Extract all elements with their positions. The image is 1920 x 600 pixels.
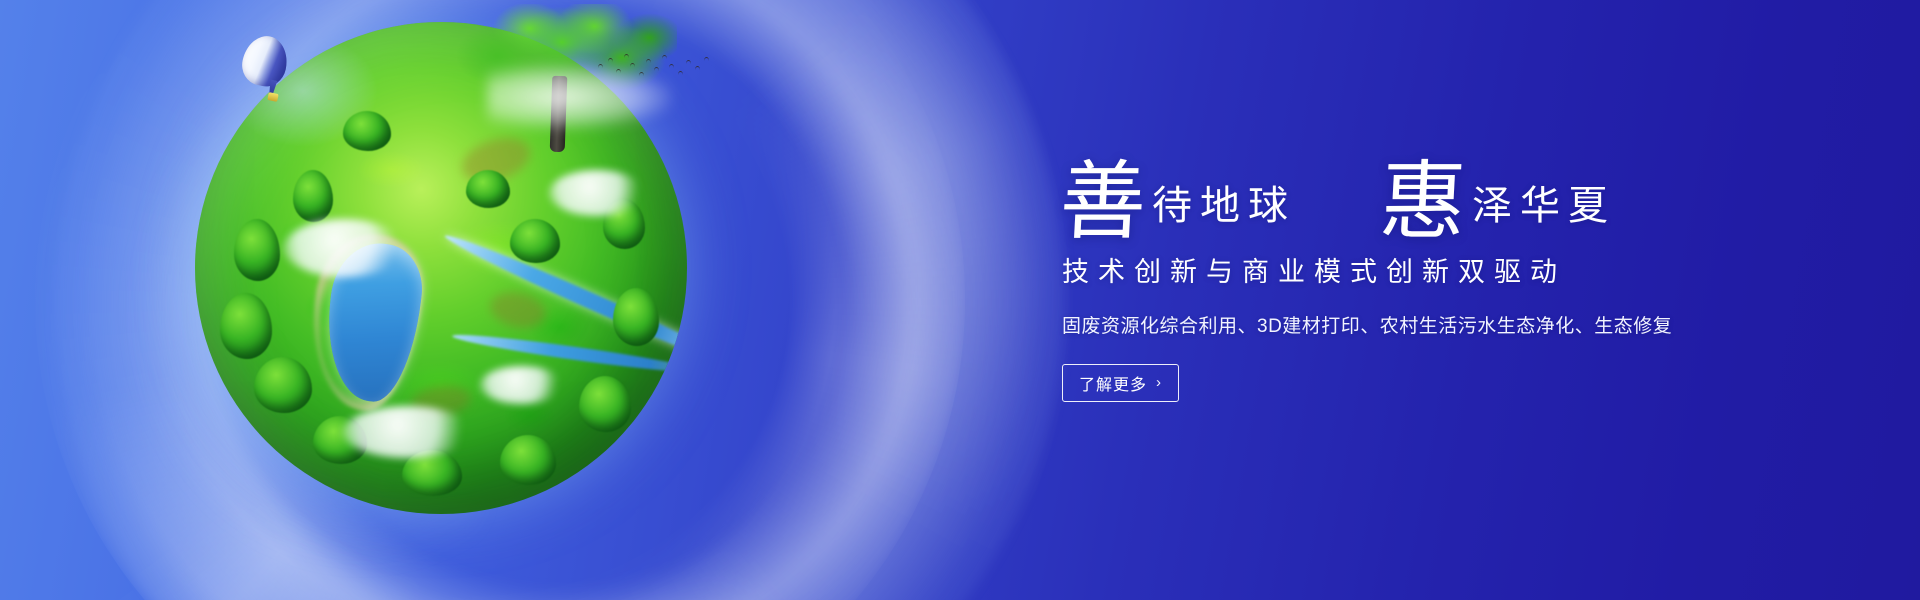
surface-cloud <box>549 170 645 216</box>
bird-icon <box>616 69 621 73</box>
banner-subtitle: 技术创新与商业模式创新双驱动 <box>1062 250 1860 289</box>
bird-icon <box>654 67 659 71</box>
bird-icon <box>608 58 613 62</box>
surface-cloud <box>284 219 404 277</box>
chevron-right-icon: › <box>1156 375 1162 390</box>
banner-content: 善 待地球 惠 泽华夏 技术创新与商业模式创新双驱动 固废资源化综合利用、3D建… <box>1060 140 1860 402</box>
forest-clump <box>234 219 280 281</box>
learn-more-label: 了解更多 <box>1079 371 1147 395</box>
bird-icon <box>678 71 683 75</box>
forest-clump <box>500 435 556 485</box>
bird-icon <box>695 66 700 70</box>
headline-plain-text-2: 泽华夏 <box>1472 186 1616 236</box>
bird-icon <box>704 57 709 61</box>
earth-patch <box>487 287 549 332</box>
forest-clump <box>254 357 312 413</box>
bird-icon <box>669 64 674 68</box>
lake-shoreline <box>303 228 430 416</box>
forest-clump <box>603 199 645 249</box>
bird-flock <box>596 50 716 86</box>
bird-icon <box>686 60 691 64</box>
forest-clump <box>510 219 560 263</box>
left-cloud-haze <box>0 0 480 600</box>
balloon-envelope <box>238 32 291 90</box>
headline-brush-char-1: 善 <box>1058 163 1148 242</box>
cloud-swirl-outer <box>0 0 1070 600</box>
earth-patch <box>410 382 474 420</box>
forest-clump <box>313 416 367 464</box>
banner-description: 固废资源化综合利用、3D建材打印、农村生活污水生态净化、生态修复 <box>1062 311 1860 338</box>
forest-clump <box>402 450 462 496</box>
learn-more-button[interactable]: 了解更多 › <box>1062 364 1179 402</box>
forest-clump <box>466 170 510 208</box>
headline: 善 待地球 惠 泽华夏 <box>1060 140 1860 236</box>
bird-icon <box>662 55 667 59</box>
river-branch <box>451 329 687 377</box>
forest-clump <box>579 376 631 432</box>
bird-icon <box>630 63 635 67</box>
hero-banner: 善 待地球 惠 泽华夏 技术创新与商业模式创新双驱动 固废资源化综合利用、3D建… <box>0 0 1920 600</box>
surface-cloud <box>480 366 564 404</box>
headline-brush-char-2: 惠 <box>1378 163 1468 242</box>
earth-patch <box>456 130 535 190</box>
hot-air-balloon-icon <box>243 36 287 106</box>
bird-icon <box>624 54 629 58</box>
lake <box>319 238 428 406</box>
forest-clump <box>343 111 391 151</box>
balloon-basket <box>267 92 278 102</box>
forest-clump <box>293 170 333 222</box>
surface-cloud <box>343 406 473 458</box>
forest-clump <box>220 293 272 359</box>
headline-plain-text-1: 待地球 <box>1152 186 1296 236</box>
forest-clump <box>613 288 659 346</box>
cloud-swirl-inner <box>35 0 965 600</box>
bird-icon <box>598 64 603 68</box>
atmosphere-glow <box>55 0 1065 600</box>
bird-icon <box>639 72 644 76</box>
tree-trunk <box>550 76 568 152</box>
river <box>442 228 687 373</box>
bird-icon <box>646 59 651 63</box>
